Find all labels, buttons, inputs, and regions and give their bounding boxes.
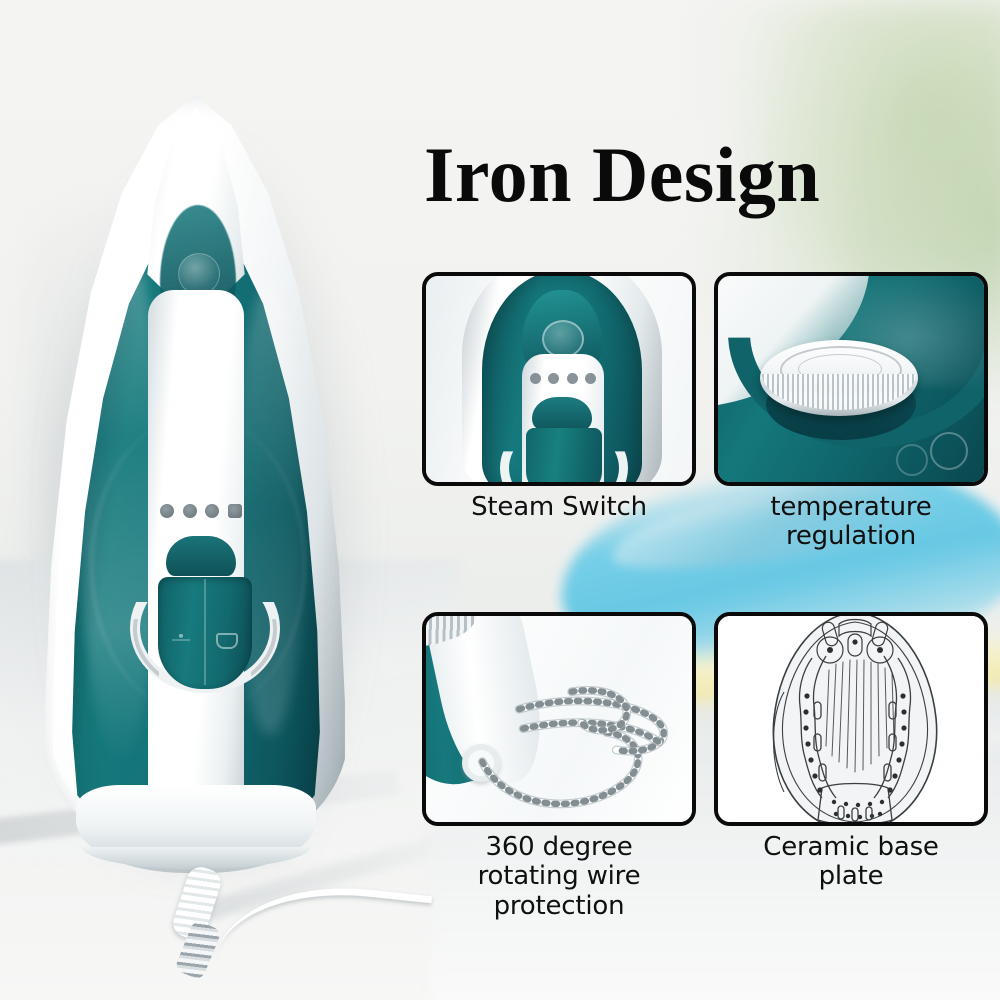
spray-button-icon [172,633,190,647]
control-icon-strip [160,500,242,522]
feature-cell-temperature-regulation: temperature regulation [714,272,988,552]
caption-line: 360 degree [422,833,696,862]
feature-image-frame-soleplate[interactable] [714,612,988,826]
panel2-badge-icon-secondary [896,444,928,476]
feature-image-frame-steam-switch[interactable] [422,272,696,486]
feature-panel-grid: Steam Switch [422,272,988,921]
brand-emblem-icon [178,253,220,295]
hero-product-image [20,85,390,875]
ceramic-soleplate-diagram [740,612,970,826]
caption-line: plate [714,862,988,891]
panel1-steam-drop-icon [548,373,559,384]
feature-caption-rotating-wire: 360 degree rotating wire protection [422,833,696,921]
fabric-wool-icon [160,504,174,518]
panel1-spray-icon [567,373,578,384]
caption-line: rotating wire [422,862,696,891]
feature-cell-steam-switch: Steam Switch [422,272,696,552]
feature-image-frame-temperature[interactable] [714,272,988,486]
feature-caption-ceramic-plate: Ceramic base plate [714,833,988,892]
caption-line: Steam Switch [422,493,696,522]
panel1-control-icon-strip [530,370,596,386]
panel1-fabric-wool-icon [530,373,541,384]
steam-switch-dial [166,533,236,576]
spray-icon [205,504,219,518]
page-title: Iron Design [424,136,944,214]
feature-cell-ceramic-plate: Ceramic base plate [714,612,988,921]
feature-caption-steam-switch: Steam Switch [422,493,696,522]
panel1-burst-steam-icon [585,373,596,384]
product-feature-poster: Iron Design [0,0,1000,1000]
panel1-button-pad [526,428,602,486]
panel1-steam-switch-dial [532,394,592,429]
feature-row-bottom: 360 degree rotating wire protection [422,612,988,921]
burst-steam-icon [228,504,242,518]
feature-image-frame-cord[interactable] [422,612,696,826]
feature-caption-temperature: temperature regulation [714,493,988,552]
braided-cord-drawing [426,616,692,824]
panel2-badge-icon [930,432,968,470]
caption-line: protection [422,892,696,921]
feature-cell-rotating-wire: 360 degree rotating wire protection [422,612,696,921]
caption-line: regulation [714,522,988,551]
caption-line: temperature [714,493,988,522]
feature-row-top: Steam Switch [422,272,988,552]
button-divider [204,579,206,685]
burst-button-icon [216,633,238,649]
steam-drop-icon [183,504,197,518]
panel1-brand-emblem-icon [542,320,584,358]
caption-line: Ceramic base [714,833,988,862]
